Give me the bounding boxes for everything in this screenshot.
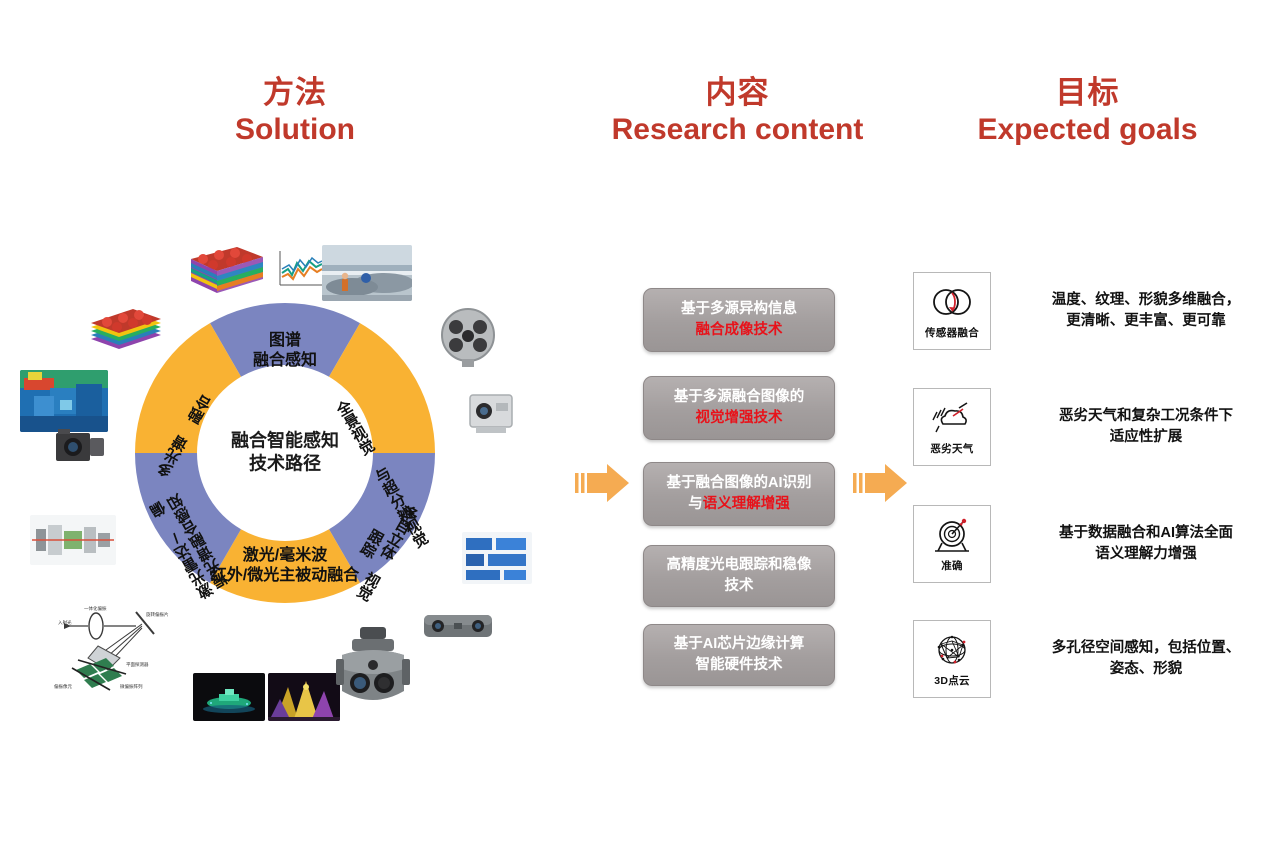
goal-text-bad-weather-line2: 适应性扩展 [1021, 427, 1268, 448]
column-header-content-en: Research content [600, 112, 875, 147]
point-cloud-sphere-icon [929, 630, 975, 670]
content-box-4-plain2: 智能硬件技术 [696, 655, 783, 676]
content-box-1-highlight: 视觉增强技术 [696, 410, 783, 426]
content-box-1-plain: 基于多源融合图像的 [674, 387, 805, 408]
svg-text:旋转偏振片: 旋转偏振片 [146, 611, 169, 618]
thumbnail-hyperspectral-cube-strawberry-top [185, 243, 267, 305]
column-header-goals-en: Expected goals [955, 112, 1220, 147]
wheel-segment-0-line1: 图谱 [269, 332, 301, 349]
wheel-segment-3-line1: 激光/毫米波 [243, 547, 327, 564]
goal-row-point-cloud: 3D点云 多孔径空间感知，包括位置、 姿态、形貌 [913, 620, 1268, 698]
content-box-2-highlight-prefix: 与 [688, 496, 703, 512]
content-box-2-highlight-row: 与语义理解增强 [688, 494, 790, 515]
right-arrow-icon [853, 460, 909, 506]
svg-text:偏振像元: 偏振像元 [54, 683, 72, 690]
content-box-photoelectric-tracking[interactable]: 高精度光电跟踪和稳像 技术 [643, 545, 835, 607]
svg-text:平面探测器: 平面探测器 [126, 661, 149, 668]
goal-card-caption-sensor-fusion: 传感器融合 [925, 325, 979, 340]
target-dart-icon [929, 515, 975, 555]
column-header-content: 内容 Research content [600, 75, 875, 147]
content-box-2-highlight: 语义理解增强 [703, 496, 790, 512]
goal-card-caption-accuracy: 准确 [941, 558, 963, 573]
column-header-solution-zh: 方法 [170, 75, 420, 112]
thumbnail-lidar-point-cloud-boat [193, 673, 265, 721]
goal-card-caption-bad-weather: 恶劣天气 [930, 441, 973, 456]
thumbnail-structured-light-pattern [462, 532, 532, 584]
fusion-technology-wheel: 图谱 融合感知 全景视觉 与超分辨视觉 多目立体 视觉跟踪 激光/毫米波 红外/… [135, 303, 435, 603]
wheel-center-line1: 融合智能感知 [200, 430, 370, 453]
content-box-0-highlight: 融合成像技术 [696, 322, 783, 338]
diagram-canvas: 方法 Solution 内容 Research content 目标 Expec… [0, 0, 1268, 866]
content-box-0-plain: 基于多源异构信息 [681, 299, 797, 320]
thumbnail-multi-lens-panoramic-rig [432, 303, 504, 367]
thumbnail-optical-path-diagram: 入射光 一体化偏振 旋转偏振片 平面探测器 偏振像元 微偏振阵列 [50, 600, 176, 692]
line-plot-icon [270, 245, 328, 297]
goal-card-sensor-fusion[interactable]: 传感器融合 [913, 272, 991, 350]
wheel-segment-spectral-fusion-sensing: 图谱 融合感知 [225, 331, 345, 370]
thumbnail-industrial-camera-photo [52, 425, 108, 469]
svg-text:微偏振阵列: 微偏振阵列 [120, 683, 143, 690]
thermal-icon [20, 370, 108, 432]
arrow-content-to-goals [853, 460, 909, 506]
goal-text-sensor-fusion-line2: 更清晰、更丰富、更可靠 [1021, 311, 1268, 332]
wheel-center-label: 融合智能感知 技术路径 [200, 430, 370, 477]
goal-text-accuracy-line1: 基于数据融合和AI算法全面 [1021, 523, 1268, 544]
right-arrow-icon [575, 460, 631, 506]
arrow-solution-to-content [575, 460, 631, 506]
pointcloud-dark-icon [193, 673, 265, 721]
rain-cloud-icon [929, 398, 975, 438]
goal-row-accuracy: 准确 基于数据融合和AI算法全面 语义理解力增强 [913, 505, 1268, 583]
goal-card-caption-point-cloud: 3D点云 [934, 673, 970, 688]
column-header-content-zh: 内容 [600, 75, 875, 112]
goal-text-sensor-fusion-line1: 温度、纹理、形貌多维融合， [1021, 290, 1268, 311]
goal-text-bad-weather: 恶劣天气和复杂工况条件下 适应性扩展 [1021, 406, 1268, 448]
content-box-ai-chip-edge-computing[interactable]: 基于AI芯片边缘计算 智能硬件技术 [643, 624, 835, 686]
svg-text:一体化偏振: 一体化偏振 [84, 605, 107, 612]
photo-scanner-icon [462, 385, 520, 437]
goal-text-accuracy-line2: 语义理解力增强 [1021, 544, 1268, 565]
column-header-goals: 目标 Expected goals [955, 75, 1220, 147]
svg-text:入射光: 入射光 [58, 619, 72, 626]
thumbnail-waveform-plot [270, 245, 328, 297]
goal-text-point-cloud-line2: 姿态、形貌 [1021, 659, 1268, 680]
photo-optics-icon [30, 515, 116, 565]
goal-card-accuracy[interactable]: 准确 [913, 505, 991, 583]
photo-stereo-icon [420, 605, 496, 647]
spectral-cube-icon [185, 243, 267, 305]
goal-row-bad-weather: 恶劣天气 恶劣天气和复杂工况条件下 适应性扩展 [913, 388, 1268, 466]
thumbnail-pipeline-inspection-photo [322, 245, 412, 301]
content-box-vision-enhancement[interactable]: 基于多源融合图像的 视觉增强技术 [643, 376, 835, 440]
venn-circles-icon [929, 282, 975, 322]
goal-text-point-cloud: 多孔径空间感知，包括位置、 姿态、形貌 [1021, 638, 1268, 680]
content-box-3-plain: 高精度光电跟踪和稳像 [667, 555, 812, 576]
thumbnail-gimbal-eo-turret-photo [330, 625, 416, 717]
thumbnail-stereo-camera-bar [420, 605, 496, 647]
content-box-2-plain: 基于融合图像的AI识别 [667, 473, 812, 494]
goal-text-bad-weather-line1: 恶劣天气和复杂工况条件下 [1021, 406, 1268, 427]
goal-row-sensor-fusion: 传感器融合 温度、纹理、形貌多维融合， 更清晰、更丰富、更可靠 [913, 272, 1268, 350]
column-header-solution-en: Solution [170, 112, 420, 147]
schematic-icon: 入射光 一体化偏振 旋转偏振片 平面探测器 偏振像元 微偏振阵列 [50, 600, 176, 692]
content-box-multi-source-fusion-imaging[interactable]: 基于多源异构信息 融合成像技术 [643, 288, 835, 352]
content-box-ai-recognition-semantics[interactable]: 基于融合图像的AI识别 与语义理解增强 [643, 462, 835, 526]
column-header-solution: 方法 Solution [170, 75, 420, 147]
goal-text-accuracy: 基于数据融合和AI算法全面 语义理解力增强 [1021, 523, 1268, 565]
photo-turret-icon [330, 625, 416, 717]
photo-rig-icon [432, 303, 504, 367]
thumbnail-polarization-optics-photo [30, 515, 116, 565]
column-header-goals-zh: 目标 [955, 75, 1220, 112]
photo-camera-icon [52, 425, 108, 469]
goal-card-point-cloud[interactable]: 3D点云 [913, 620, 991, 698]
thumbnail-scanner-device-photo [462, 385, 520, 437]
goal-card-bad-weather[interactable]: 恶劣天气 [913, 388, 991, 466]
wheel-center-line2: 技术路径 [200, 453, 370, 476]
goal-text-point-cloud-line1: 多孔径空间感知，包括位置、 [1021, 638, 1268, 659]
wheel-segment-0-line2: 融合感知 [253, 352, 317, 369]
photo-industrial-icon [322, 245, 412, 301]
blue-pattern-icon [462, 532, 532, 584]
content-box-4-plain: 基于AI芯片边缘计算 [674, 634, 805, 655]
content-box-1-highlight-row: 视觉增强技术 [696, 408, 783, 429]
goal-text-sensor-fusion: 温度、纹理、形貌多维融合， 更清晰、更丰富、更可靠 [1021, 290, 1268, 332]
content-box-3-plain2: 技术 [725, 576, 754, 597]
content-box-0-highlight-row: 融合成像技术 [696, 320, 783, 341]
thumbnail-thermal-machinery-image [20, 370, 108, 432]
